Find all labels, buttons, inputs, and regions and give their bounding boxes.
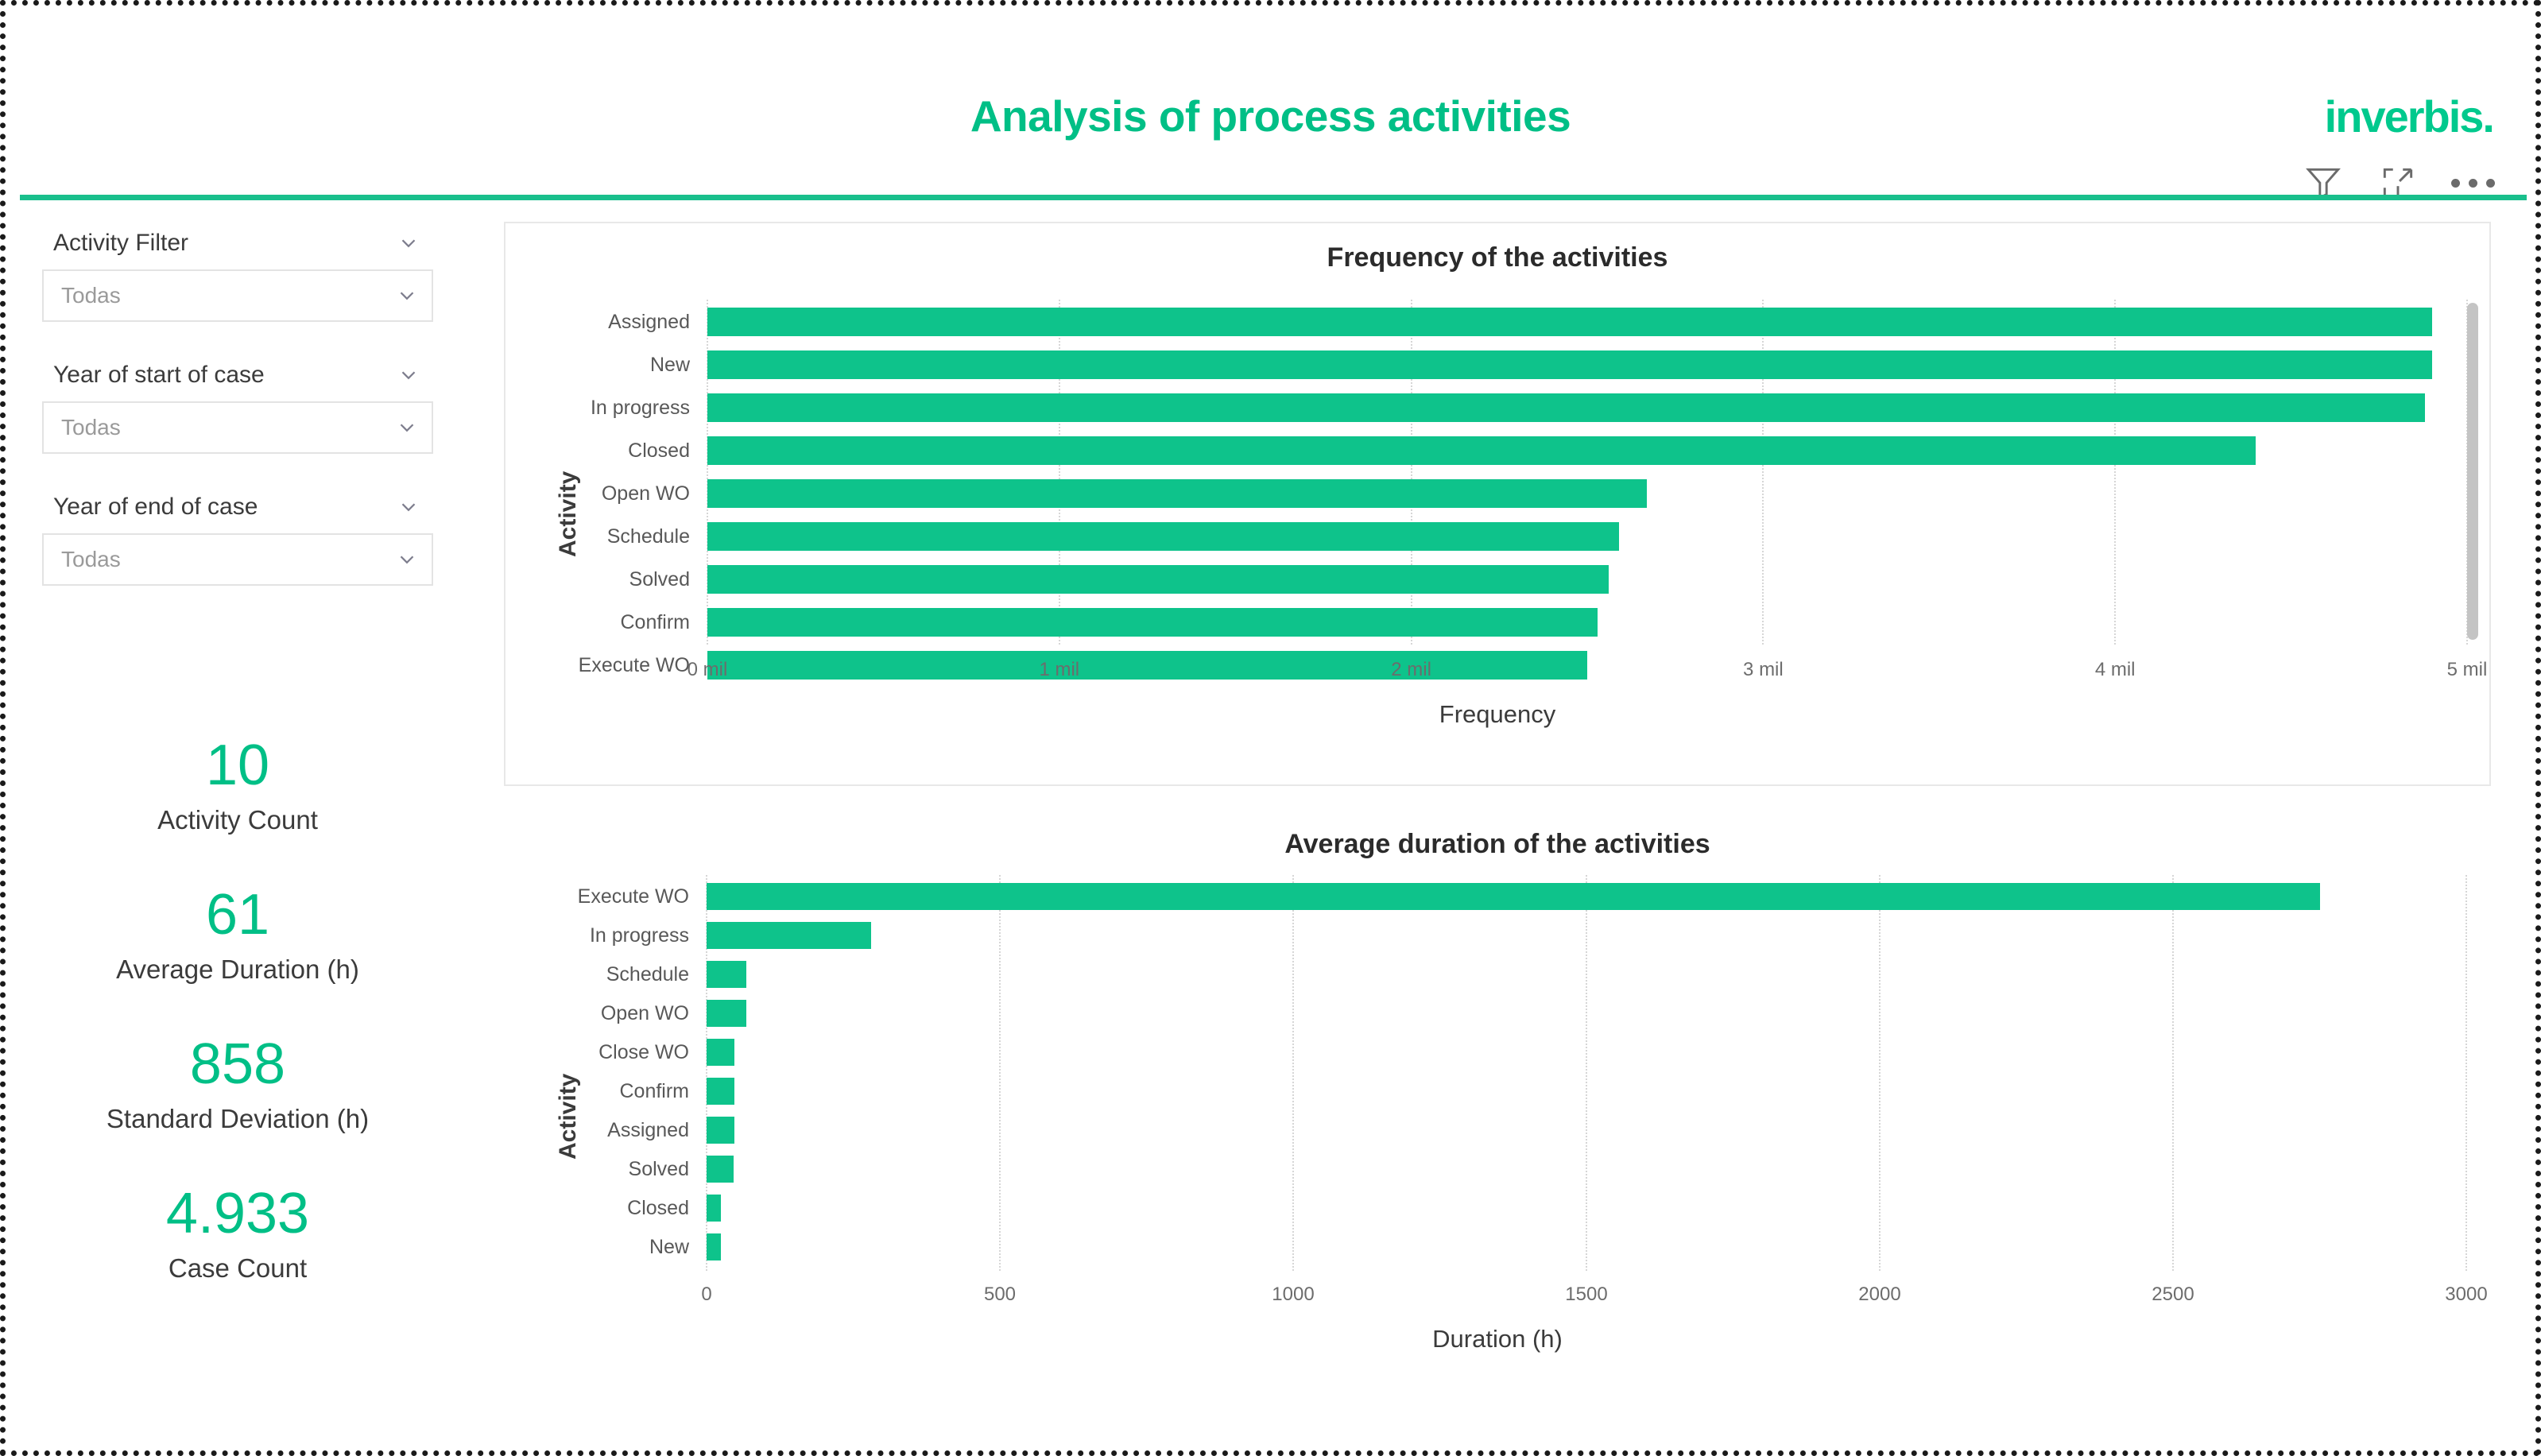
- chart-bar[interactable]: [707, 1195, 721, 1222]
- chart-category-label: Confirm: [505, 613, 690, 633]
- chart-category-label: Close WO: [505, 1043, 689, 1063]
- slicer-header[interactable]: Year of end of case: [42, 494, 433, 521]
- chart-bar[interactable]: [707, 1156, 734, 1183]
- chart-category-label: Schedule: [505, 965, 689, 985]
- chevron-down-icon[interactable]: [395, 548, 419, 571]
- kpi-activity-count: 10 Activity Count: [42, 737, 433, 835]
- chart-x-axis-title: Frequency: [505, 700, 2489, 729]
- chart-bar[interactable]: [707, 522, 1619, 551]
- kpi-average-duration: 61 Average Duration (h): [42, 886, 433, 985]
- chart-bar[interactable]: [707, 1233, 721, 1260]
- kpi-value: 4.933: [42, 1185, 433, 1242]
- chart-bar[interactable]: [707, 1039, 734, 1066]
- chart-bar[interactable]: [707, 479, 1647, 508]
- chart-bar[interactable]: [707, 922, 871, 949]
- chart-category-label: In progress: [505, 926, 689, 946]
- chart-x-tick-label: 1 mil: [988, 659, 1131, 681]
- chart-vertical-scrollbar[interactable]: [2467, 303, 2478, 640]
- kpi-label: Case Count: [42, 1253, 433, 1284]
- slicer-dropdown[interactable]: Todas: [42, 269, 433, 322]
- kpi-value: 10: [42, 737, 433, 794]
- kpi-value: 61: [42, 886, 433, 943]
- slicer-value: Todas: [61, 547, 121, 572]
- chart-card-duration: Average duration of the activities Execu…: [504, 808, 2491, 1365]
- chart-x-tick-label: 3000: [2395, 1284, 2538, 1306]
- slicer-activity-filter: Activity Filter Todas: [42, 230, 433, 322]
- page-title: Analysis of process activities: [20, 91, 2521, 141]
- chart-bar[interactable]: [707, 1078, 734, 1105]
- chart-card-frequency: Frequency of the activities AssignedNewI…: [504, 222, 2491, 786]
- chart-category-label: In progress: [505, 398, 690, 418]
- chart-gridline: [2172, 875, 2174, 1271]
- chart-category-label: New: [505, 355, 690, 375]
- chart-x-tick-label: 2500: [2101, 1284, 2245, 1306]
- slicer-year-of-end-of-case: Year of end of case Todas: [42, 494, 433, 586]
- chart-category-label: Closed: [505, 441, 690, 461]
- chevron-down-icon[interactable]: [395, 416, 419, 440]
- dashboard-page: Analysis of process activities inverbis.: [0, 0, 2541, 1456]
- slicer-title: Activity Filter: [53, 230, 188, 257]
- chart-gridline: [2465, 875, 2467, 1271]
- chart-x-tick-label: 1000: [1222, 1284, 1365, 1306]
- kpi-standard-deviation: 858 Standard Deviation (h): [42, 1036, 433, 1134]
- kpi-value: 858: [42, 1036, 433, 1093]
- kpi-label: Standard Deviation (h): [42, 1104, 433, 1134]
- chart-y-axis-title: Activity: [555, 1074, 582, 1160]
- chart-bar[interactable]: [707, 1117, 734, 1144]
- kpi-label: Average Duration (h): [42, 955, 433, 985]
- chart-bar[interactable]: [707, 308, 2432, 336]
- chart-category-label: Solved: [505, 1160, 689, 1179]
- chart-x-tick-label: 500: [928, 1284, 1071, 1306]
- chart-category-label: Assigned: [505, 312, 690, 332]
- slicer-header[interactable]: Year of start of case: [42, 362, 433, 389]
- chart-x-axis-title: Duration (h): [505, 1325, 2489, 1353]
- chart-bar[interactable]: [707, 565, 1609, 594]
- kpi-panel: 10 Activity Count 61 Average Duration (h…: [42, 737, 433, 1284]
- chart-category-label: Assigned: [505, 1121, 689, 1140]
- chart-x-tick-label: 3 mil: [1691, 659, 1834, 681]
- dashboard-header: Analysis of process activities inverbis.: [20, 15, 2521, 182]
- chart-gridline: [999, 875, 1001, 1271]
- slicer-title: Year of end of case: [53, 494, 258, 521]
- chart-category-label: Open WO: [505, 484, 690, 504]
- slicer-value: Todas: [61, 283, 121, 308]
- chart-gridline: [1879, 875, 1881, 1271]
- inverbis-logo: inverbis.: [2325, 95, 2493, 139]
- chart-category-label: New: [505, 1237, 689, 1257]
- slicer-title: Year of start of case: [53, 362, 265, 389]
- chart-category-label: Schedule: [505, 527, 690, 547]
- chart-plot-area[interactable]: AssignedNewIn progressClosedOpen WOSched…: [505, 223, 2489, 784]
- kpi-label: Activity Count: [42, 805, 433, 835]
- chart-x-tick-label: 5 mil: [2396, 659, 2539, 681]
- chevron-down-icon[interactable]: [397, 231, 420, 255]
- slicer-value: Todas: [61, 415, 121, 440]
- chart-gridline: [1586, 875, 1587, 1271]
- chart-gridline: [1292, 875, 1294, 1271]
- slicer-header[interactable]: Activity Filter: [42, 230, 433, 257]
- slicer-dropdown[interactable]: Todas: [42, 401, 433, 454]
- slicer-dropdown[interactable]: Todas: [42, 533, 433, 586]
- chart-x-tick-label: 0 mil: [636, 659, 779, 681]
- chevron-down-icon[interactable]: [397, 363, 420, 387]
- chart-category-label: Open WO: [505, 1004, 689, 1024]
- chart-x-tick-label: 0: [635, 1284, 778, 1306]
- chart-x-tick-label: 2 mil: [1340, 659, 1483, 681]
- chart-y-axis-title: Activity: [555, 471, 582, 557]
- chart-category-label: Execute WO: [505, 887, 689, 907]
- chart-bar[interactable]: [707, 883, 2320, 910]
- chevron-down-icon[interactable]: [397, 495, 420, 519]
- chart-category-label: Closed: [505, 1198, 689, 1218]
- chart-x-tick-label: 2000: [1808, 1284, 1951, 1306]
- header-divider: [20, 195, 2527, 200]
- slicer-year-of-start-of-case: Year of start of case Todas: [42, 362, 433, 454]
- chart-bar[interactable]: [707, 436, 2256, 465]
- kpi-case-count: 4.933 Case Count: [42, 1185, 433, 1284]
- chart-bar[interactable]: [707, 350, 2432, 379]
- chart-bar[interactable]: [707, 393, 2425, 422]
- chart-bar[interactable]: [707, 961, 746, 988]
- chart-bar[interactable]: [707, 608, 1598, 637]
- chart-bar[interactable]: [707, 1000, 746, 1027]
- chart-plot-area[interactable]: Execute WOIn progressScheduleOpen WOClos…: [505, 810, 2489, 1363]
- filter-sidebar: Activity Filter Todas Year of start of c…: [42, 230, 433, 625]
- chart-category-label: Solved: [505, 570, 690, 590]
- chart-category-label: Confirm: [505, 1082, 689, 1102]
- chart-x-tick-label: 1500: [1515, 1284, 1658, 1306]
- chart-x-tick-label: 4 mil: [2043, 659, 2187, 681]
- chevron-down-icon[interactable]: [395, 284, 419, 308]
